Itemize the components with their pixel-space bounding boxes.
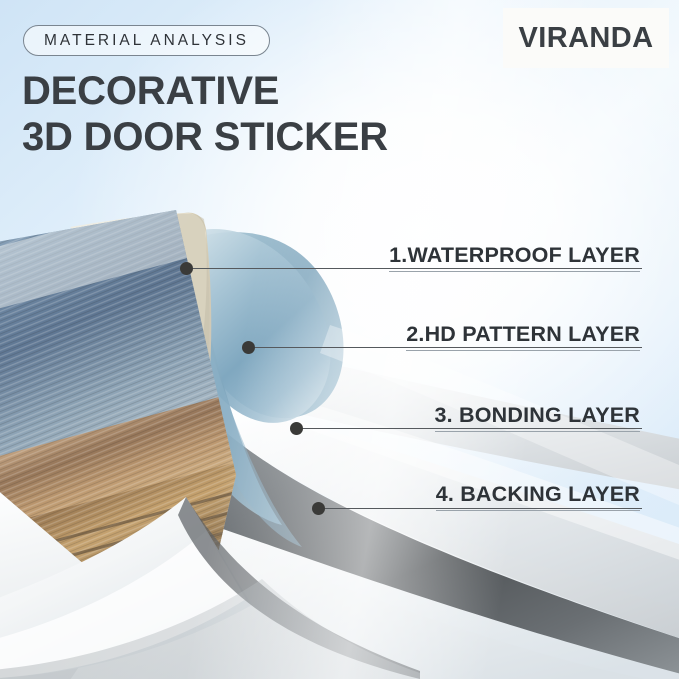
callout-rule-1 xyxy=(389,271,640,272)
callout-dot-3 xyxy=(290,422,303,435)
callout-label-1: 1.WATERPROOF LAYER xyxy=(389,243,640,267)
callout-waterproof-layer: 1.WATERPROOF LAYER xyxy=(389,243,640,272)
callout-rule-3 xyxy=(435,431,641,432)
material-analysis-badge: MATERIAL ANALYSIS xyxy=(23,25,270,56)
badge-label: MATERIAL ANALYSIS xyxy=(44,32,249,50)
callout-label-2: 2.HD PATTERN LAYER xyxy=(406,322,640,346)
callout-rule-2 xyxy=(406,350,640,351)
callout-dot-1 xyxy=(180,262,193,275)
material-analysis-infographic: MATERIAL ANALYSIS DECORATIVE 3D DOOR STI… xyxy=(0,0,679,679)
callout-label-3: 3. BONDING LAYER xyxy=(435,403,641,427)
callout-hd-pattern-layer: 2.HD PATTERN LAYER xyxy=(406,322,640,351)
page-title: DECORATIVE 3D DOOR STICKER xyxy=(22,68,388,160)
callout-label-4: 4. BACKING LAYER xyxy=(436,482,640,506)
callout-rule-4 xyxy=(436,510,640,511)
callout-dot-4 xyxy=(312,502,325,515)
brand-logo: VIRANDA xyxy=(503,8,669,68)
callout-bonding-layer: 3. BONDING LAYER xyxy=(435,403,641,432)
brand-name: VIRANDA xyxy=(519,22,654,55)
callout-dot-2 xyxy=(242,341,255,354)
title-line-2: 3D DOOR STICKER xyxy=(22,114,388,160)
title-line-1: DECORATIVE xyxy=(22,69,279,113)
callout-backing-layer: 4. BACKING LAYER xyxy=(436,482,640,511)
